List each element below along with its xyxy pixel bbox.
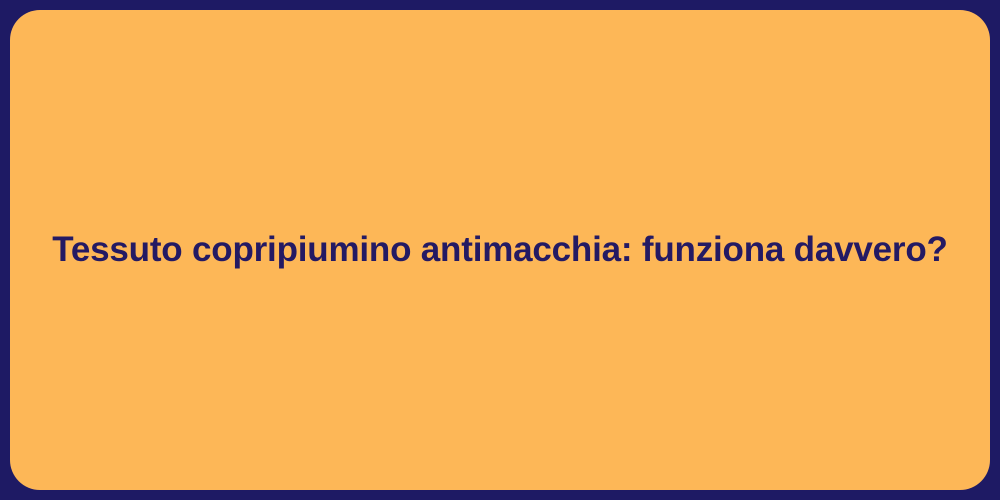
page-title: Tessuto copripiumino antimacchia: funzio…	[12, 228, 987, 272]
banner-card: Tessuto copripiumino antimacchia: funzio…	[10, 10, 990, 490]
banner-frame: Tessuto copripiumino antimacchia: funzio…	[0, 0, 1000, 500]
